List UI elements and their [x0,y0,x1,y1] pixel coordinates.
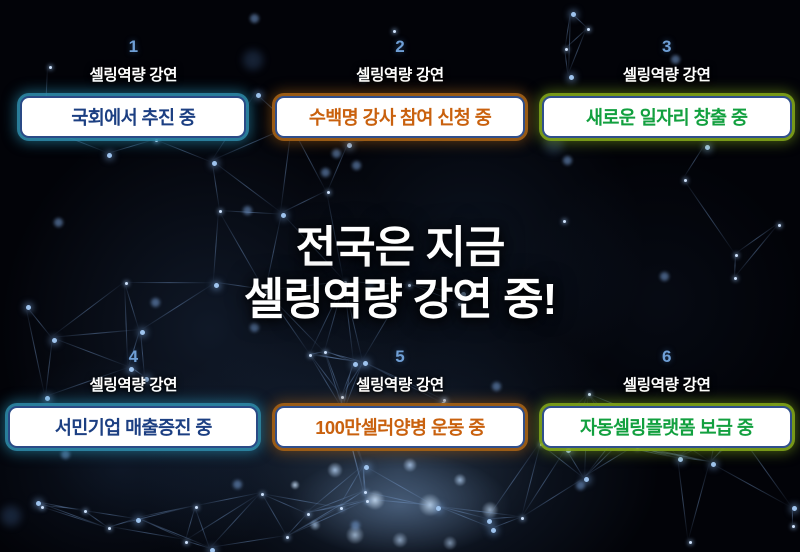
particle-link-line [570,12,587,28]
particle-dot [250,14,259,23]
particle-link-line [683,145,705,179]
item-pill-1[interactable]: 국회에서 추진 중 [20,96,246,138]
particle-link-line [327,143,349,192]
particle-dot [140,330,145,335]
particle-dot [393,30,396,33]
particle-link-line [136,517,210,548]
particle-link-line [154,139,211,163]
particle-dot [678,457,683,462]
particle-dot [243,206,252,215]
feature-item-1: 1 셀링역량 강연 국회에서 추진 중 [0,38,267,138]
particle-dot [566,448,571,453]
item-number-6: 6 [662,348,671,365]
particle-dot [792,525,795,528]
item-pill-2[interactable]: 수백명 강사 참여 신청 중 [275,96,525,138]
particle-link-line [194,506,210,548]
particle-link-line [108,526,185,540]
particle-link-line [635,445,710,462]
particle-dot [136,518,141,523]
particle-dot [563,156,572,165]
particle-dot [684,179,687,182]
particle-link-line [185,493,261,541]
item-number-3: 3 [662,38,671,55]
item-number-2: 2 [395,38,404,55]
feature-item-4: 4 셀링역량 강연 서민기업 매출증진 중 [0,348,267,448]
particle-dot [571,12,576,17]
feature-item-3: 3 셀링역량 강연 새로운 일자리 창출 중 [533,38,800,138]
particle-dot [587,28,590,31]
particle-link-line [107,139,156,154]
item-number-1: 1 [129,38,138,55]
particle-link-line [710,462,791,507]
particle-link-line [84,510,137,519]
particle-link-line [281,190,327,213]
particle-dot [347,143,352,148]
particle-dot [155,139,158,142]
particle-link-line [83,510,108,528]
particle-link-line [280,126,292,214]
particle-link-line [36,501,84,511]
feature-row-bottom: 4 셀링역량 강연 서민기업 매출증진 중 5 셀링역량 강연 100만셀러양병… [0,348,800,448]
particle-link-line [678,456,710,462]
particle-dot [233,480,242,489]
particle-link-line [635,446,678,458]
particle-dot [705,145,710,150]
particle-dot [711,462,716,467]
item-subtitle-3: 셀링역량 강연 [623,68,711,84]
particle-link-line [677,457,688,541]
item-pill-6[interactable]: 자동셀링플랫폼 보급 중 [542,406,792,448]
poster-canvas: 1 셀링역량 강연 국회에서 추진 중 2 셀링역량 강연 수백명 강사 참여 … [0,0,800,552]
feature-item-2: 2 셀링역량 강연 수백명 강사 참여 신청 중 [267,38,534,138]
particle-dot [36,501,41,506]
particle-dot [52,338,57,343]
item-pill-3[interactable]: 새로운 일자리 창출 중 [542,96,792,138]
particle-link-line [195,492,261,506]
particle-link-line [52,329,140,338]
item-number-4: 4 [129,348,138,365]
feature-item-5: 5 셀링역량 강연 100만셀러양병 운동 중 [267,348,534,448]
particle-link-line [688,462,711,542]
particle-dot [107,153,112,158]
particle-dot [212,161,217,166]
particle-dot [321,168,330,177]
particle-link-line [209,492,260,548]
particle-dot [108,527,111,530]
particle-link-line [136,517,185,540]
particle-dot [352,161,361,170]
particle-dot [195,506,198,509]
particle-link-line [185,540,210,549]
item-pill-4[interactable]: 서민기업 매출증진 중 [8,406,258,448]
particle-link-line [219,210,281,215]
particle-link-line [565,448,584,478]
particle-dot [185,541,188,544]
particle-link-line [791,506,792,525]
particle-dot [792,506,797,511]
feature-row-top: 1 셀링역량 강연 국회에서 추진 중 2 셀링역량 강연 수백명 강사 참여 … [0,38,800,138]
item-subtitle-5: 셀링역량 강연 [356,378,444,394]
particle-dot [576,481,585,490]
item-pill-5[interactable]: 100만셀러양병 운동 중 [275,406,525,448]
particle-dot [1,506,21,526]
item-number-5: 5 [395,348,404,365]
particle-dot [327,191,330,194]
item-subtitle-1: 셀링역량 강연 [89,68,177,84]
particle-dot [210,548,215,552]
particle-dot [41,506,44,509]
page-title: 전국은 지금 셀링역량 강연 중! [0,222,800,326]
particle-link-line [108,518,136,528]
particle-link-line [584,445,636,477]
particle-dot [584,477,589,482]
particle-link-line [41,506,108,528]
item-subtitle-2: 셀링역량 강연 [356,68,444,84]
particle-link-line [583,444,617,478]
particle-dot [219,210,222,213]
particle-link-line [36,501,109,529]
feature-item-6: 6 셀링역량 강연 자동셀링플랫폼 보급 중 [533,348,800,448]
particle-link-line [136,505,195,518]
page-title-line-1: 전국은 지금 [296,223,505,272]
particle-dot [689,541,692,544]
particle-dot [84,510,87,513]
particle-dot [281,213,286,218]
particle-link-line [212,161,220,210]
particle-link-line [108,505,195,527]
particle-link-line [41,505,83,510]
particle-dot [61,450,70,459]
page-title-line-2: 셀링역량 강연 중! [0,274,800,326]
item-subtitle-4: 셀링역량 강연 [89,378,177,394]
particle-link-line [212,160,282,213]
particle-dot [332,149,341,158]
item-subtitle-6: 셀링역량 강연 [623,378,711,394]
particle-link-line [185,506,196,541]
